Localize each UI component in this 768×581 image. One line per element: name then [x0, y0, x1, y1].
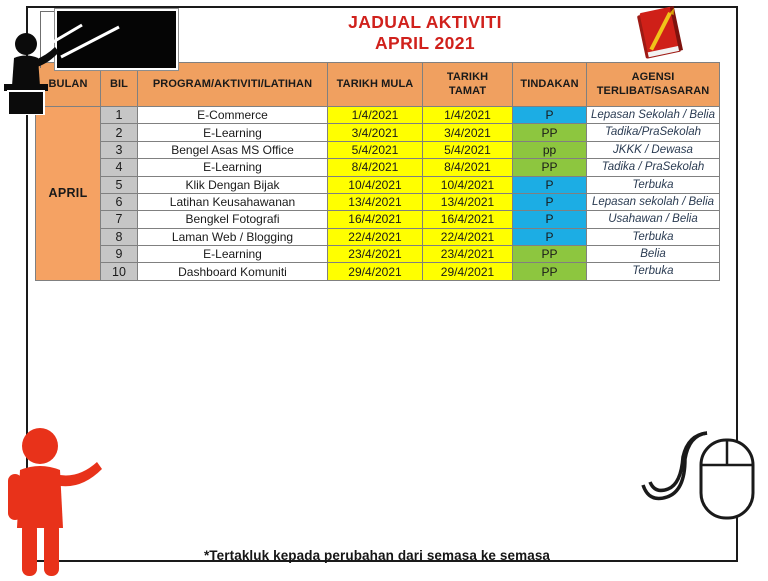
cell-tarikh-tamat: 29/4/2021 [423, 263, 513, 280]
cell-tarikh-mula: 3/4/2021 [328, 124, 423, 141]
cell-program: Laman Web / Blogging [138, 228, 328, 245]
cell-tarikh-mula: 13/4/2021 [328, 193, 423, 210]
cell-agensi: Lepasan sekolah / Belia [587, 193, 720, 210]
cell-bil: 9 [101, 246, 138, 263]
red-book-pencil-icon [631, 4, 693, 62]
activity-schedule-table: BULAN BIL PROGRAM/AKTIVITI/LATIHAN TARIK… [35, 62, 720, 281]
cell-tarikh-mula: 10/4/2021 [328, 176, 423, 193]
cell-tarikh-mula: 8/4/2021 [328, 159, 423, 176]
cell-agensi: Lepasan Sekolah / Belia [587, 107, 720, 124]
table-row: 8Laman Web / Blogging22/4/202122/4/2021P… [36, 228, 720, 245]
cell-tindakan: PP [513, 246, 587, 263]
cell-program: E-Learning [138, 124, 328, 141]
cell-tarikh-tamat: 3/4/2021 [423, 124, 513, 141]
teacher-silhouette-icon [2, 20, 102, 115]
cell-agensi: JKKK / Dewasa [587, 141, 720, 158]
cell-tarikh-mula: 23/4/2021 [328, 246, 423, 263]
cell-agensi: Terbuka [587, 228, 720, 245]
cell-program: Latihan Keusahawanan [138, 193, 328, 210]
cell-tindakan: P [513, 228, 587, 245]
cell-tarikh-mula: 29/4/2021 [328, 263, 423, 280]
cell-tarikh-mula: 16/4/2021 [328, 211, 423, 228]
cell-bil: 4 [101, 159, 138, 176]
column-header-tindakan: TINDAKAN [513, 63, 587, 107]
cell-tindakan: PP [513, 159, 587, 176]
tarikh-tamat-line2: TAMAT [424, 85, 511, 99]
cell-agensi: Usahawan / Belia [587, 211, 720, 228]
table-row: 5Klik Dengan Bijak10/4/202110/4/2021PTer… [36, 176, 720, 193]
cell-program: Bengel Asas MS Office [138, 141, 328, 158]
cell-program: E-Learning [138, 246, 328, 263]
cell-bil: 6 [101, 193, 138, 210]
cell-program: Klik Dengan Bijak [138, 176, 328, 193]
cell-bil: 1 [101, 107, 138, 124]
table-row: 4E-Learning8/4/20218/4/2021PPTadika / Pr… [36, 159, 720, 176]
column-header-tarikh-mula: TARIKH MULA [328, 63, 423, 107]
table-row: 10Dashboard Komuniti29/4/202129/4/2021PP… [36, 263, 720, 280]
cell-bil: 10 [101, 263, 138, 280]
table-row: 2E-Learning3/4/20213/4/2021PPTadika/PraS… [36, 124, 720, 141]
cell-tarikh-tamat: 1/4/2021 [423, 107, 513, 124]
cell-bulan-april: APRIL [36, 107, 101, 281]
cell-bil: 8 [101, 228, 138, 245]
table-row: 7Bengkel Fotografi16/4/202116/4/2021PUsa… [36, 211, 720, 228]
cell-program: E-Learning [138, 159, 328, 176]
cell-agensi: Belia [587, 246, 720, 263]
cell-agensi: Terbuka [587, 263, 720, 280]
tarikh-tamat-line1: TARIKH [424, 71, 511, 85]
cell-tarikh-tamat: 23/4/2021 [423, 246, 513, 263]
cell-bil: 3 [101, 141, 138, 158]
cell-tarikh-tamat: 5/4/2021 [423, 141, 513, 158]
cell-program: Bengkel Fotografi [138, 211, 328, 228]
column-header-agensi: AGENSI TERLIBAT/SASARAN [587, 63, 720, 107]
column-header-tarikh-tamat: TARIKH TAMAT [423, 63, 513, 107]
title-line-2: APRIL 2021 [245, 33, 605, 54]
cell-tarikh-mula: 1/4/2021 [328, 107, 423, 124]
cell-tindakan: PP [513, 124, 587, 141]
cell-tarikh-tamat: 16/4/2021 [423, 211, 513, 228]
cell-agensi: Tadika/PraSekolah [587, 124, 720, 141]
agensi-line2: TERLIBAT/SASARAN [588, 85, 718, 99]
footnote-text: *Tertakluk kepada perubahan dari semasa … [35, 548, 719, 563]
page-title: JADUAL AKTIVITIAPRIL 2021 [245, 12, 605, 55]
cell-tarikh-tamat: 8/4/2021 [423, 159, 513, 176]
table-row: 3Bengel Asas MS Office5/4/20215/4/2021pp… [36, 141, 720, 158]
cell-tindakan: P [513, 176, 587, 193]
cell-tindakan: pp [513, 141, 587, 158]
cell-tarikh-mula: 22/4/2021 [328, 228, 423, 245]
table-row: 6Latihan Keusahawanan13/4/202113/4/2021P… [36, 193, 720, 210]
cell-tarikh-mula: 5/4/2021 [328, 141, 423, 158]
cell-tarikh-tamat: 10/4/2021 [423, 176, 513, 193]
cell-bil: 7 [101, 211, 138, 228]
cell-tarikh-tamat: 13/4/2021 [423, 193, 513, 210]
cell-agensi: Terbuka [587, 176, 720, 193]
cell-bil: 5 [101, 176, 138, 193]
table-row: APRIL1E-Commerce1/4/20211/4/2021PLepasan… [36, 107, 720, 124]
cell-tindakan: P [513, 107, 587, 124]
cell-program: E-Commerce [138, 107, 328, 124]
cell-tindakan: P [513, 193, 587, 210]
cell-agensi: Tadika / PraSekolah [587, 159, 720, 176]
computer-mouse-icon [633, 420, 768, 538]
title-line-1: JADUAL AKTIVITI [245, 12, 605, 33]
cell-tindakan: P [513, 211, 587, 228]
cell-program: Dashboard Komuniti [138, 263, 328, 280]
cell-tindakan: PP [513, 263, 587, 280]
table-row: 9E-Learning23/4/202123/4/2021PPBelia [36, 246, 720, 263]
cell-tarikh-tamat: 22/4/2021 [423, 228, 513, 245]
agensi-line1: AGENSI [588, 71, 718, 85]
cell-bil: 2 [101, 124, 138, 141]
